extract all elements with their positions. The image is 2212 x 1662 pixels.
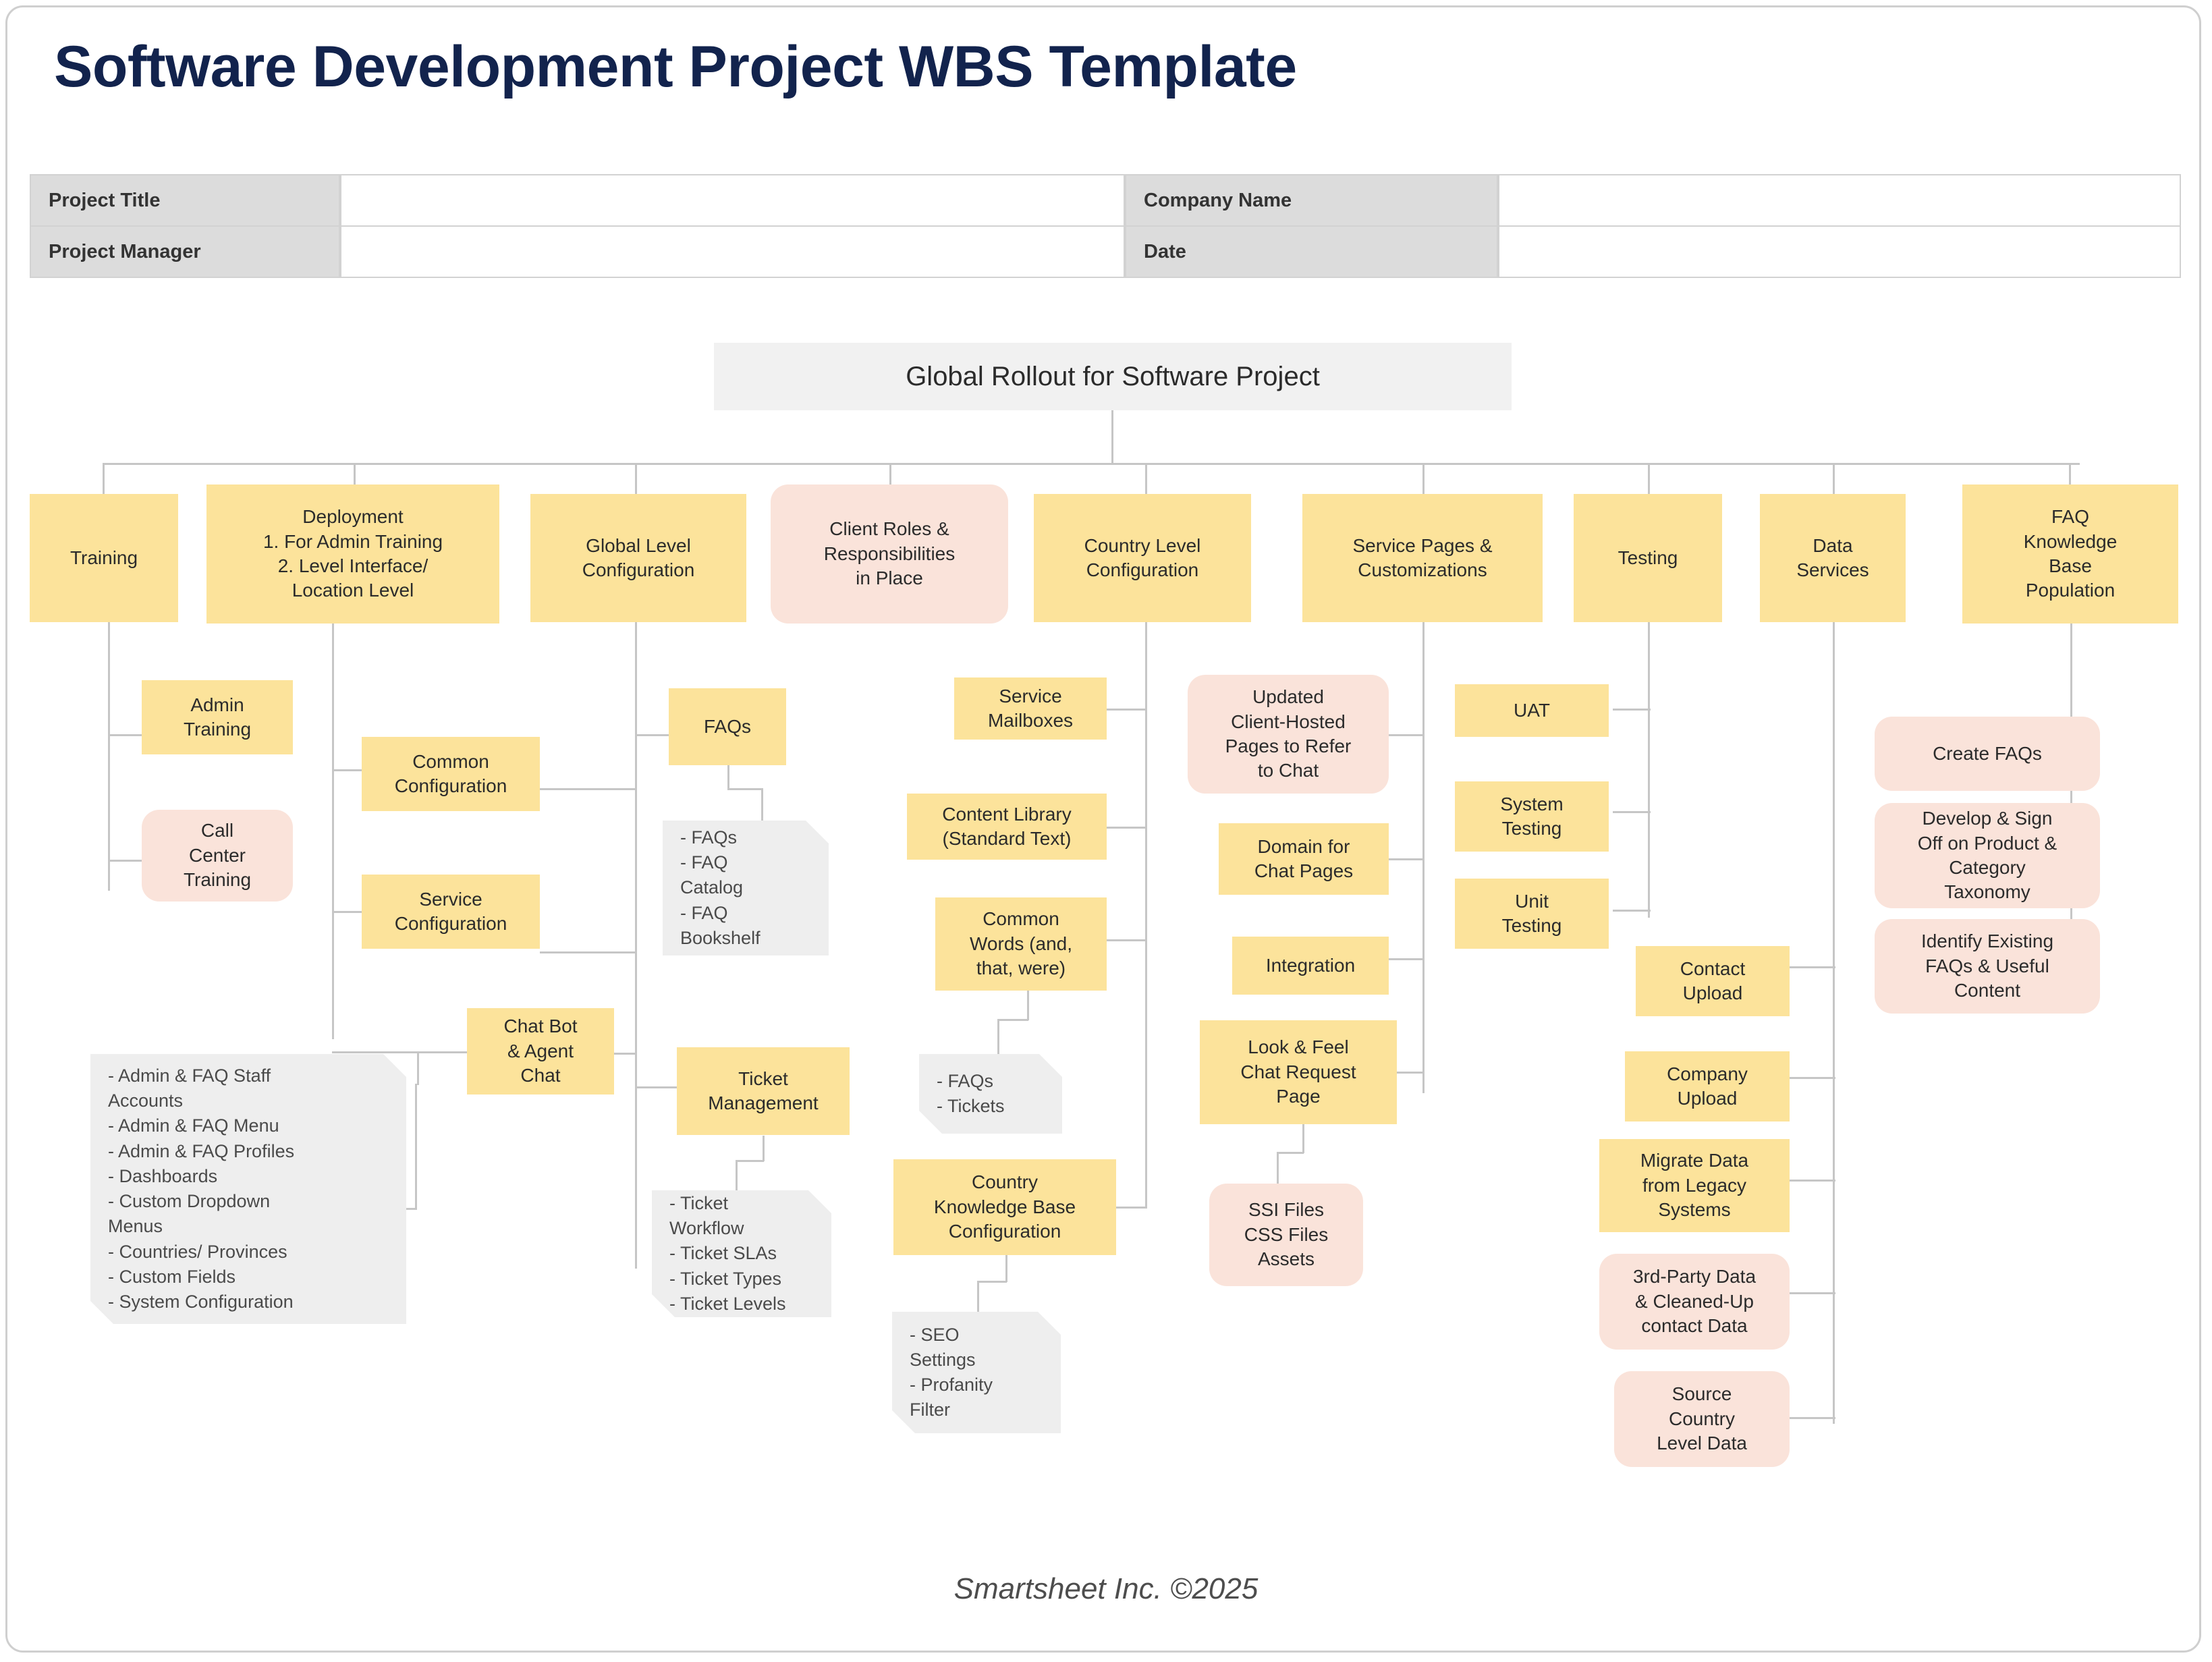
connector-country-to-contentlib <box>1107 827 1147 829</box>
wbs-node-develop-sign-off-taxonomy[interactable]: Develop & Sign Off on Product & Category… <box>1875 803 2100 908</box>
connector-level1-bus <box>103 463 2080 465</box>
connector-countrykb-note-h <box>977 1281 1007 1283</box>
connector-testing-to-unit <box>1613 910 1651 912</box>
connector-drop-service-pages <box>1422 463 1425 494</box>
connector-data-to-3rdparty <box>1790 1292 1835 1294</box>
wbs-node-integration[interactable]: Integration <box>1232 937 1389 995</box>
wbs-node-testing[interactable]: Testing <box>1574 494 1722 622</box>
company-name-label: Company Name <box>1125 174 1498 227</box>
connector-servicepages-spine <box>1422 621 1425 1093</box>
connector-commonwords-note-v2 <box>997 1019 999 1054</box>
wbs-node-data-services[interactable]: Data Services <box>1760 494 1906 622</box>
wbs-node-country-level-configuration[interactable]: Country Level Configuration <box>1034 494 1251 622</box>
connector-data-to-company <box>1790 1077 1835 1079</box>
connector-service-to-updated <box>1389 734 1424 736</box>
connector-dataservices-spine <box>1833 621 1835 1424</box>
wbs-node-service-pages-customizations[interactable]: Service Pages & Customizations <box>1302 494 1543 622</box>
wbs-node-service-configuration[interactable]: Service Configuration <box>362 875 540 949</box>
wbs-node-country-knowledge-base-configuration[interactable]: Country Knowledge Base Configuration <box>893 1159 1116 1255</box>
wbs-node-common-words[interactable]: Common Words (and, that, were) <box>935 897 1107 991</box>
wbs-node-migrate-data-legacy[interactable]: Migrate Data from Legacy Systems <box>1599 1139 1790 1232</box>
footer-copyright: Smartsheet Inc. ©2025 <box>0 1572 2212 1606</box>
wbs-node-training[interactable]: Training <box>30 494 178 622</box>
connector-commonwords-note-h <box>997 1019 1028 1021</box>
wbs-node-system-testing[interactable]: System Testing <box>1455 781 1609 852</box>
connector-deployment-note-v <box>415 1084 417 1209</box>
connector-globalconfig-from-common <box>540 788 636 790</box>
wbs-node-content-library[interactable]: Content Library (Standard Text) <box>907 794 1107 860</box>
connector-drop-data-services <box>1833 463 1835 494</box>
connector-testing-spine <box>1648 621 1650 918</box>
connector-deployment-note-stub <box>417 1051 419 1085</box>
connector-globalconfig-to-faqs <box>635 734 669 736</box>
connector-drop-country-config <box>1145 463 1147 494</box>
connector-testing-to-uat <box>1613 709 1651 711</box>
connector-ticket-note-h <box>736 1160 764 1162</box>
wbs-node-global-level-configuration[interactable]: Global Level Configuration <box>530 494 746 622</box>
connector-country-to-mailboxes <box>1107 709 1147 711</box>
wbs-note-common-words: - FAQs - Tickets <box>919 1054 1062 1134</box>
connector-ticket-note-v2 <box>736 1160 738 1195</box>
wbs-note-deployment-config: - Admin & FAQ Staff Accounts - Admin & F… <box>90 1054 406 1324</box>
connector-countrykb-note-v2 <box>977 1281 979 1314</box>
wbs-node-client-roles-responsibilities[interactable]: Client Roles & Responsibilities in Place <box>771 484 1008 624</box>
connector-training-to-callcenter <box>108 860 142 862</box>
wbs-node-ssi-css-assets[interactable]: SSI Files CSS Files Assets <box>1209 1184 1363 1286</box>
wbs-node-create-faqs[interactable]: Create FAQs <box>1875 717 2100 791</box>
connector-lookfeel-ssi-v2 <box>1277 1152 1279 1184</box>
wbs-root-node[interactable]: Global Rollout for Software Project <box>714 343 1512 410</box>
connector-faqs-note-h <box>727 788 763 790</box>
connector-deployment-spine <box>332 621 334 1039</box>
wbs-node-uat[interactable]: UAT <box>1455 684 1609 737</box>
wbs-node-faq-knowledge-base-population[interactable]: FAQ Knowledge Base Population <box>1962 484 2178 624</box>
connector-data-to-contact <box>1790 966 1835 968</box>
wbs-template-page: Software Development Project WBS Templat… <box>0 0 2212 1662</box>
wbs-node-company-upload[interactable]: Company Upload <box>1625 1051 1790 1121</box>
wbs-node-updated-client-hosted-pages[interactable]: Updated Client-Hosted Pages to Refer to … <box>1188 675 1389 794</box>
wbs-node-3rd-party-data[interactable]: 3rd-Party Data & Cleaned-Up contact Data <box>1599 1254 1790 1350</box>
wbs-node-domain-for-chat-pages[interactable]: Domain for Chat Pages <box>1219 823 1389 895</box>
wbs-node-chat-bot-agent-chat[interactable]: Chat Bot & Agent Chat <box>467 1008 614 1095</box>
date-label: Date <box>1125 225 1498 278</box>
connector-countrykb-note-v1 <box>1005 1254 1007 1282</box>
connector-country-to-commonwords <box>1107 939 1147 941</box>
connector-service-to-domain <box>1389 858 1424 860</box>
wbs-node-common-configuration[interactable]: Common Configuration <box>362 737 540 811</box>
wbs-node-identify-existing-faqs[interactable]: Identify Existing FAQs & Useful Content <box>1875 919 2100 1014</box>
project-title-label: Project Title <box>30 174 340 227</box>
project-info-table: Project Title Company Name Project Manag… <box>30 174 2181 242</box>
connector-service-to-integration <box>1389 958 1424 960</box>
wbs-node-call-center-training[interactable]: Call Center Training <box>142 810 293 902</box>
wbs-note-faqs: - FAQs - FAQ Catalog - FAQ Bookshelf <box>663 821 829 955</box>
connector-training-to-admin <box>108 734 142 736</box>
connector-globalconfig-spine <box>635 621 637 1269</box>
company-name-input[interactable] <box>1498 174 2181 227</box>
connector-root-stem <box>1111 410 1113 464</box>
connector-drop-testing <box>1648 463 1650 494</box>
connector-drop-training <box>103 463 105 494</box>
project-manager-input[interactable] <box>340 225 1125 278</box>
connector-globalconfig-to-ticket <box>635 1086 677 1088</box>
wbs-note-ticket-management: - Ticket Workflow - Ticket SLAs - Ticket… <box>652 1190 831 1317</box>
connector-faqs-note-v1 <box>727 764 729 790</box>
connector-lookfeel-ssi-v1 <box>1302 1124 1304 1153</box>
connector-ticket-note-v1 <box>763 1136 765 1161</box>
connector-drop-global-config <box>635 463 637 494</box>
connector-commonwords-note-v1 <box>1027 991 1029 1020</box>
connector-data-to-source <box>1790 1417 1835 1419</box>
wbs-node-faqs[interactable]: FAQs <box>669 688 786 765</box>
wbs-node-admin-training[interactable]: Admin Training <box>142 680 293 754</box>
wbs-node-service-mailboxes[interactable]: Service Mailboxes <box>954 677 1107 740</box>
project-manager-label: Project Manager <box>30 225 340 278</box>
connector-deployment-to-common <box>332 769 362 771</box>
connector-lookfeel-ssi-h <box>1277 1152 1304 1154</box>
connector-faqs-note-v2 <box>761 788 763 822</box>
wbs-node-unit-testing[interactable]: Unit Testing <box>1455 879 1609 949</box>
connector-data-to-migrate <box>1790 1180 1835 1182</box>
connector-deployment-to-chatbot <box>332 1051 467 1053</box>
project-title-input[interactable] <box>340 174 1125 227</box>
wbs-note-country-knowledge-base: - SEO Settings - Profanity Filter <box>892 1312 1061 1433</box>
wbs-node-ticket-management[interactable]: Ticket Management <box>677 1047 850 1135</box>
connector-globalconfig-from-service <box>540 951 636 953</box>
wbs-node-deployment[interactable]: Deployment 1. For Admin Training 2. Leve… <box>206 484 499 624</box>
wbs-node-contact-upload[interactable]: Contact Upload <box>1636 946 1790 1016</box>
connector-deployment-to-service <box>332 911 362 913</box>
connector-training-spine <box>108 621 110 891</box>
wbs-node-look-feel-chat-request-page[interactable]: Look & Feel Chat Request Page <box>1200 1020 1397 1124</box>
date-input[interactable] <box>1498 225 2181 278</box>
connector-testing-to-system <box>1613 811 1651 813</box>
page-title: Software Development Project WBS Templat… <box>54 34 1297 101</box>
wbs-node-source-country-level-data[interactable]: Source Country Level Data <box>1614 1371 1790 1467</box>
